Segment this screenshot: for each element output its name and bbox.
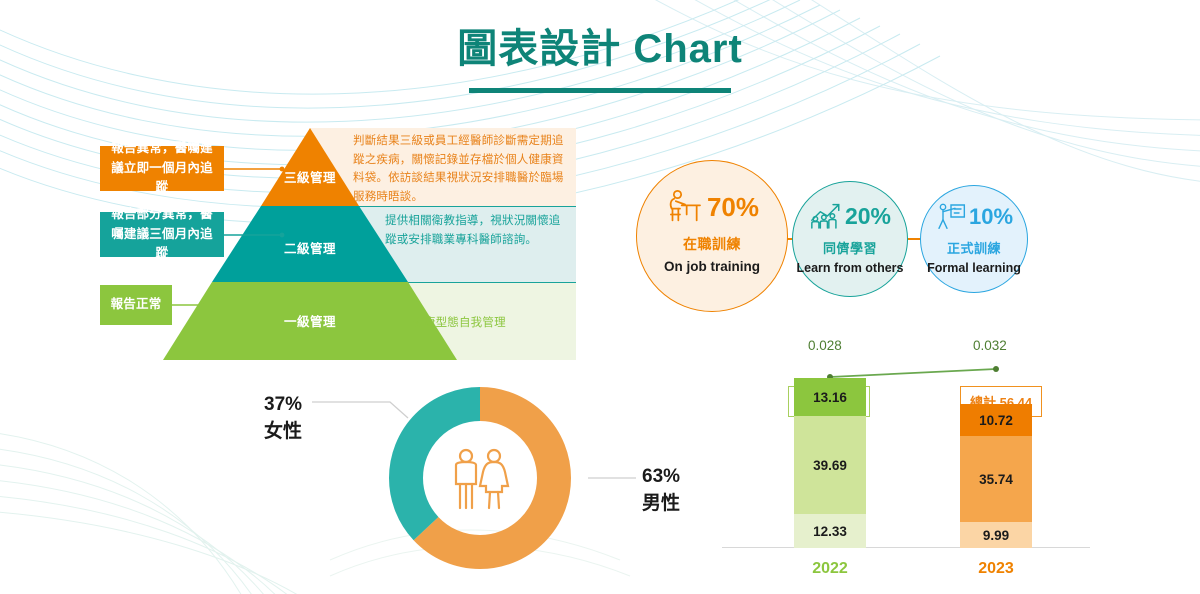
donut-leader-line-female [312, 402, 408, 418]
man-woman-icon [456, 450, 508, 508]
circle-3-label-zh: 正式訓練 [947, 238, 1001, 257]
training-circle-on-job[interactable]: 70% 在職訓練 On job training [636, 160, 788, 312]
trend-line-svg [722, 330, 1090, 390]
bar-2022-segment-bottom: 12.33 [794, 514, 866, 548]
circle-1-top-row: 70% [665, 187, 759, 227]
donut-chart-svg [250, 368, 700, 590]
stacked-bar-chart: 0.028 0.032 總計 65.18 總計 56.44 13.16 39.6… [722, 330, 1090, 590]
people-growth-chart-icon [809, 199, 843, 233]
bar-2023-segment-middle: 35.74 [960, 436, 1032, 522]
circle-3-percent: 10% [969, 206, 1013, 228]
pyramid-callout-tier3: 報告異常，醫囑建議立即一個月內追蹤 [100, 146, 224, 191]
person-at-desk-icon [665, 187, 705, 227]
page-title-block: 圖表設計 Chart [0, 26, 1200, 93]
training-ratio-circles: 70% 在職訓練 On job training [636, 160, 1092, 320]
bar-2023: 10.72 35.74 9.99 [960, 404, 1032, 548]
training-circle-learn-from-others[interactable]: 20% 同儕學習 Learn from others [792, 181, 908, 297]
circle-1-label-zh: 在職訓練 [683, 234, 741, 254]
bar-2022-segment-middle: 39.69 [794, 416, 866, 514]
title-underline [469, 88, 731, 93]
pyramid-tier2-label: 二級管理 [250, 238, 370, 257]
circle-3-label-en: Formal learning [927, 261, 1021, 277]
pyramid-callout-tier2: 報告部分異常，醫囑建議三個月內追蹤 [100, 212, 224, 257]
circle-2-label-zh: 同儕學習 [823, 238, 877, 257]
gender-distribution-donut: 37% 女性 63% 男性 [250, 368, 700, 590]
page-title: 圖表設計 Chart [0, 26, 1200, 72]
circle-1-percent: 70% [707, 194, 759, 220]
panel-text-tier2: 提供相關衛教指導，視狀況關懷追蹤或安排職業專科醫師諮詢。 [385, 212, 565, 249]
bar-category-2023: 2023 [960, 560, 1032, 578]
bar-2023-segment-top: 10.72 [960, 404, 1032, 436]
bar-category-2022: 2022 [794, 560, 866, 578]
chart-baseline [722, 547, 1090, 548]
circle-2-percent: 20% [845, 205, 891, 228]
bar-2022: 13.16 39.69 12.33 [794, 378, 866, 548]
panel-text-tier3: 判斷結果三級或員工經醫師診斷需定期追蹤之疾病，關懷記錄並存檔於個人健康資料袋。依… [353, 132, 565, 207]
bar-2023-segment-bottom: 9.99 [960, 522, 1032, 548]
presenter-whiteboard-icon [935, 201, 967, 233]
bar-2022-segment-top: 13.16 [794, 378, 866, 416]
training-circle-formal-learning[interactable]: 10% 正式訓練 Formal learning [920, 185, 1028, 293]
pyramid-tier3-label: 三級管理 [250, 167, 370, 186]
circle-2-top-row: 20% [809, 199, 891, 233]
pyramid-callout-tier1: 報告正常 [100, 285, 172, 325]
circle-1-label-en: On job training [664, 259, 760, 276]
infographic-canvas: 圖表設計 Chart 三級管理 二級管理 一級管理 判斷結果三級或員工經醫師診斷… [0, 0, 1200, 594]
panel-text-tier1: 健康型態自我管理 [353, 314, 565, 333]
circle-2-label-en: Learn from others [797, 261, 904, 277]
pyramid-tier1-label: 一級管理 [250, 311, 370, 330]
circle-3-top-row: 10% [935, 201, 1013, 233]
